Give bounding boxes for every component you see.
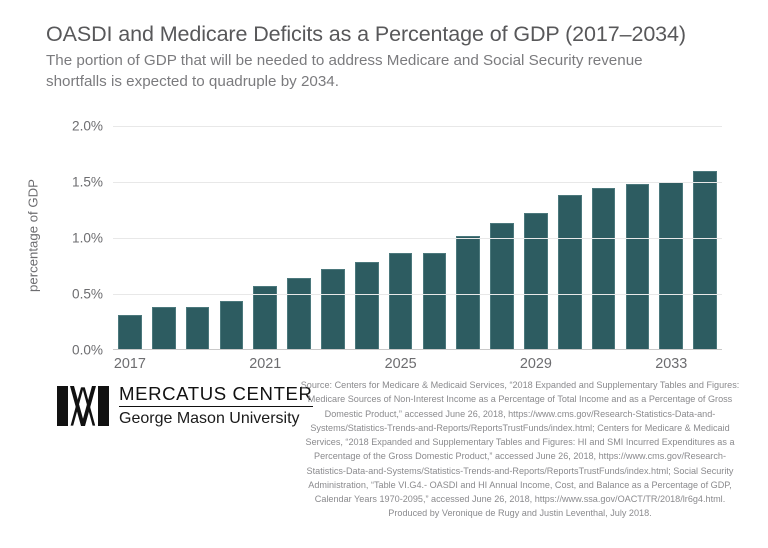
bar[interactable] [626,184,650,350]
bar[interactable] [321,269,345,350]
bar[interactable] [558,195,582,350]
source-credit: Produced by Veronique de Rugy and Justin… [300,506,740,520]
chart-header: OASDI and Medicare Deficits as a Percent… [46,22,736,93]
gridline [113,238,722,239]
page-title: OASDI and Medicare Deficits as a Percent… [46,22,736,47]
y-axis-label: percentage of GDP [26,166,41,306]
chart-subtitle: The portion of GDP that will be needed t… [46,50,686,93]
bar[interactable] [253,286,277,350]
mercatus-m-mark-icon [57,384,109,428]
bar[interactable] [693,171,717,350]
gridline [113,182,722,183]
plot-canvas: 2.0%1.5%1.0%0.5%0.0% [113,126,722,350]
bar[interactable] [186,307,210,350]
y-axis-tick-label: 1.5% [72,175,103,190]
x-axis-tick-label: 2029 [520,356,552,372]
bar[interactable] [456,236,480,350]
x-axis-tick-label: 2021 [249,356,281,372]
x-axis-tick-label: 2025 [385,356,417,372]
bar[interactable] [152,307,176,350]
bar[interactable] [118,315,142,350]
bar[interactable] [220,301,244,350]
y-axis-tick-label: 0.0% [72,343,103,358]
bar[interactable] [389,253,413,350]
logo-organization: MERCATUS CENTER [119,383,313,407]
bar[interactable] [490,223,514,350]
y-axis-tick-label: 0.5% [72,287,103,302]
gridline [113,126,722,127]
chart-area: percentage of GDP 2.0%1.5%1.0%0.5%0.0% 2… [0,110,768,370]
x-axis-tick-label: 2033 [655,356,687,372]
bar[interactable] [592,188,616,350]
mercatus-logo: MERCATUS CENTER George Mason University [57,383,313,429]
gridline [113,294,722,295]
source-note: Source: Centers for Medicare & Medicaid … [300,378,740,521]
bar[interactable] [287,278,311,350]
chart-page: OASDI and Medicare Deficits as a Percent… [0,0,768,548]
bar[interactable] [355,262,379,350]
x-axis-tick-label: 2017 [114,356,146,372]
logo-university: George Mason University [119,407,313,429]
source-citation: Source: Centers for Medicare & Medicaid … [300,378,740,506]
bar[interactable] [659,182,683,350]
gridline [113,350,722,351]
logo-text: MERCATUS CENTER George Mason University [119,383,313,429]
y-axis-tick-label: 1.0% [72,231,103,246]
bar[interactable] [423,253,447,350]
x-axis-ticks: 20172021202520292033 [113,356,722,378]
y-axis-tick-label: 2.0% [72,119,103,134]
bar[interactable] [524,213,548,350]
